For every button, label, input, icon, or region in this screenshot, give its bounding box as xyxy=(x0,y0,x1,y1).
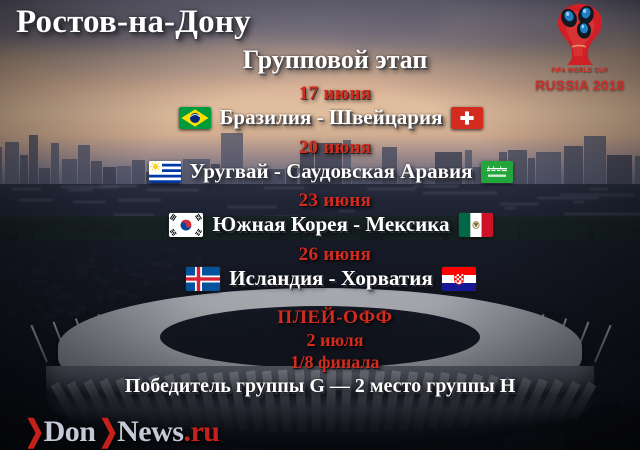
logo-chevron-icon: ❯ xyxy=(98,414,118,449)
match-date: 23 июня xyxy=(0,190,640,212)
logo-chevron-icon: ❯ xyxy=(24,414,44,449)
playoff-round: 1/8 финала xyxy=(0,352,640,373)
iceland-flag-icon xyxy=(186,267,220,291)
south-korea-flag-icon xyxy=(169,213,203,237)
brazil-flag xyxy=(179,107,211,129)
switzerland-flag xyxy=(451,107,483,129)
match-teams: Бразилия - Швейцария xyxy=(220,105,443,130)
match-row: Бразилия - Швейцария xyxy=(0,105,640,130)
page-title: Ростов-на-Дону xyxy=(16,4,251,41)
logo-tld: .ru xyxy=(183,415,219,449)
playoff-pairing: Победитель группы G — 2 место группы H xyxy=(0,375,640,398)
logo-part-don: Don xyxy=(44,415,96,449)
south-korea-flag xyxy=(169,213,203,237)
match-date: 26 июня xyxy=(0,244,640,266)
match-row: Южная Корея - Мексика xyxy=(0,212,640,237)
match-teams: Южная Корея - Мексика xyxy=(212,212,449,237)
uruguay-flag xyxy=(149,161,181,183)
brazil-flag-icon xyxy=(179,107,211,129)
match-row: Уругвай - Саудовская Аравия xyxy=(0,159,640,184)
fifa-world-cup-trophy-icon xyxy=(528,2,632,72)
saudi-arabia-flag-icon xyxy=(481,161,513,183)
mexico-flag-icon xyxy=(459,213,493,237)
donnews-logo[interactable]: ❯ Don ❯ News .ru xyxy=(22,414,219,449)
match-teams: Исландия - Хорватия xyxy=(229,266,432,291)
fifa-emblem: FIFA WORLD CUP RUSSIA 2018 xyxy=(528,2,632,102)
fifa-edition-label: RUSSIA 2018 xyxy=(528,77,632,93)
match-row: Исландия - Хорватия xyxy=(0,266,640,291)
iceland-flag xyxy=(186,267,220,291)
switzerland-flag-icon xyxy=(451,107,483,129)
playoff-date: 2 июля xyxy=(0,330,640,351)
croatia-flag-icon xyxy=(442,267,476,291)
world-cup-rostov-poster: Ростов-на-Дону Групповой этап 17 июня Бр… xyxy=(0,0,640,450)
mexico-flag xyxy=(459,213,493,237)
uruguay-flag-icon xyxy=(149,161,181,183)
poster-content: Ростов-на-Дону Групповой этап 17 июня Бр… xyxy=(0,0,640,450)
match-date: 20 июня xyxy=(0,137,640,159)
playoff-heading: ПЛЕЙ-ОФФ xyxy=(0,307,640,329)
saudi-arabia-flag xyxy=(481,161,513,183)
match-teams: Уругвай - Саудовская Аравия xyxy=(190,159,473,184)
croatia-flag xyxy=(442,267,476,291)
fifa-wordmark: FIFA WORLD CUP xyxy=(528,68,632,74)
logo-part-news: News xyxy=(117,415,183,449)
